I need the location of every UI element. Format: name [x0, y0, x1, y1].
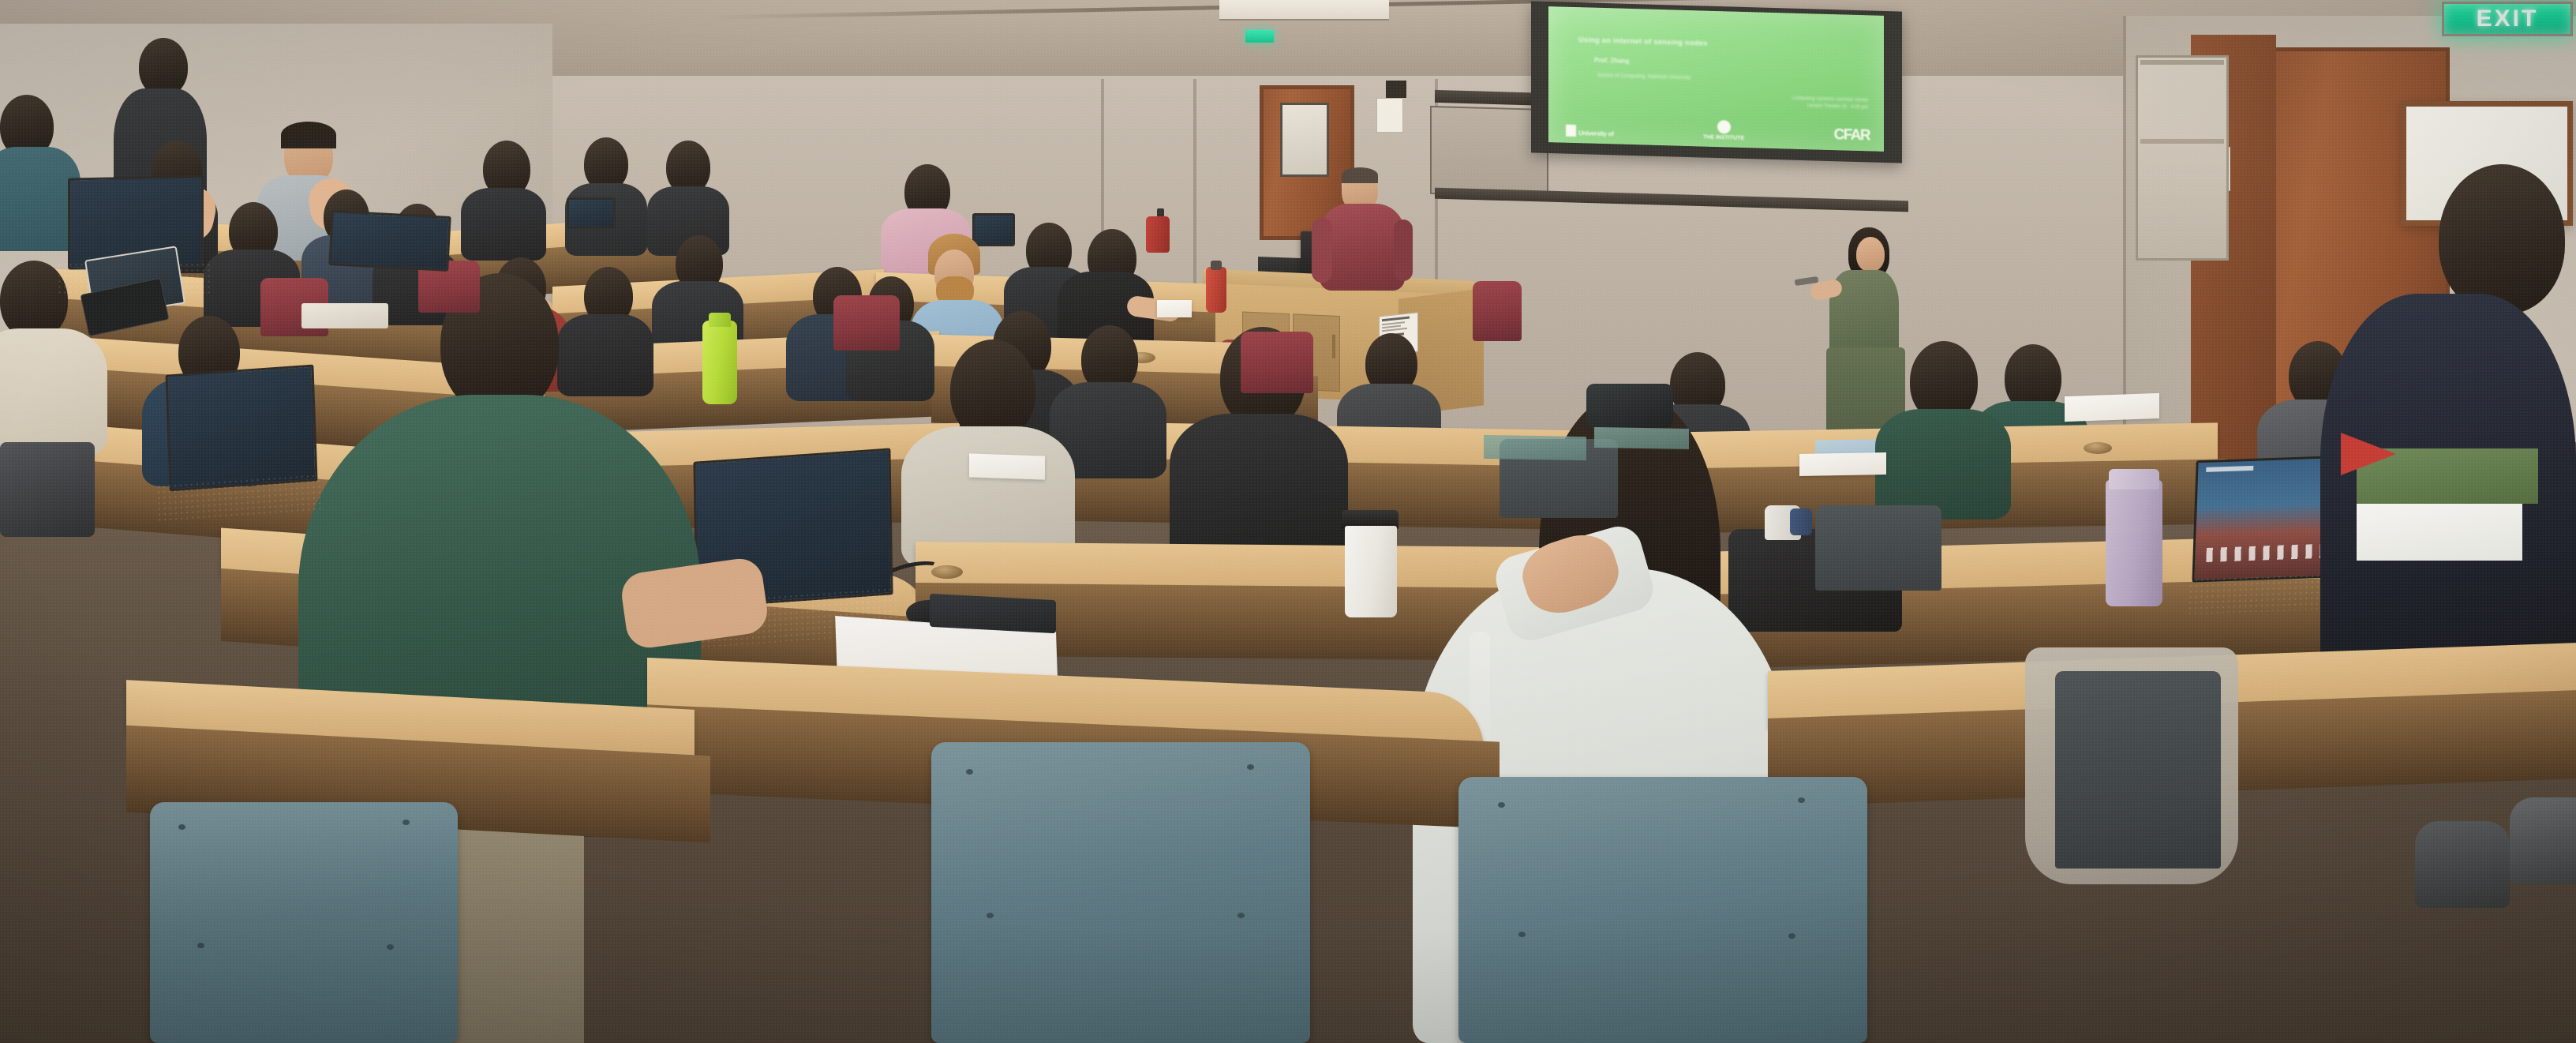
laptop-back-row	[972, 213, 1015, 246]
panel-louver-1	[2140, 60, 2224, 65]
wall-panel-right	[2136, 55, 2229, 261]
lecture-hall-photo: EXIT Using an internet of sensing nodes …	[0, 0, 2576, 1043]
desk-grommet-6	[2084, 442, 2112, 454]
chair-foreground-left[interactable]	[150, 802, 458, 1043]
backpack-bottle-cap	[1790, 508, 1812, 535]
walking-person-head	[139, 38, 188, 96]
chair-foreground-centre[interactable]	[931, 742, 1310, 1043]
speaker-arm-left	[1312, 218, 1332, 283]
student-torso-3	[461, 188, 546, 261]
slide-presenter: Prof. Zhang	[1594, 57, 1839, 71]
notebook-foreground	[930, 594, 1056, 633]
student-torso-12	[557, 314, 653, 396]
slide-logo-row: University of THE INSTITUTE CFAR	[1566, 113, 1870, 145]
projection-screen: Using an internet of sensing nodes Prof.…	[1548, 6, 1884, 152]
wall-notice-back	[1376, 98, 1403, 133]
purple-tumbler	[2106, 480, 2162, 606]
exit-sign-label: EXIT	[2477, 6, 2539, 32]
student-torso-24	[1875, 409, 2011, 520]
wall-speaker-icon	[1386, 81, 1406, 98]
facilitator-head	[1856, 237, 1885, 272]
chair-red-tier3b[interactable]	[1241, 332, 1313, 393]
chair-mid-2[interactable]	[1815, 505, 1941, 591]
right-person-shoe-right	[2510, 797, 2576, 884]
green-bottle-cap	[709, 313, 731, 327]
exit-indicator-icon	[1245, 30, 1274, 43]
student-head-grey-centre	[950, 340, 1035, 441]
green-water-bottle	[702, 321, 737, 404]
chair-foreground-right[interactable]	[1458, 777, 1867, 1043]
speaker-hair	[1342, 167, 1378, 183]
left-laptop-screen-3[interactable]	[328, 210, 451, 272]
paper-mid-1	[969, 453, 1045, 479]
student-torso-dark-centre	[1170, 414, 1348, 564]
paper-mid-2	[1799, 452, 1886, 476]
desk-mat-2	[1594, 427, 1689, 449]
student-torso-21	[0, 328, 107, 455]
right-person-shoe-left	[2415, 821, 2510, 908]
institute-logo: THE INSTITUTE	[1703, 120, 1744, 141]
student-hair-2	[281, 122, 336, 148]
red-bottle-cap	[1211, 261, 1222, 270]
hair-clip	[1586, 384, 1673, 428]
slide-affiliation: School of Computing, National University	[1597, 73, 1842, 85]
panel-louver-2	[2140, 139, 2224, 144]
desk-mat-1	[1484, 435, 1586, 460]
scarf-band-white	[2357, 499, 2522, 561]
left-laptop-screen-1[interactable]	[165, 365, 317, 492]
podium-handle-right[interactable]	[1332, 335, 1335, 358]
red-water-bottle	[1206, 267, 1226, 313]
chair-seat-right[interactable]	[2055, 671, 2221, 869]
ceiling-light-panel	[1219, 0, 1389, 21]
sponsor-logo: CFAR	[1834, 126, 1870, 144]
exit-sign: EXIT	[2442, 2, 2573, 36]
laptop-back-row-2	[567, 197, 616, 229]
white-laptop-lid[interactable]	[301, 303, 388, 328]
university-logo: University of	[1566, 125, 1614, 138]
back-door-window	[1280, 103, 1329, 177]
slide-title: Using an internet of sensing nodes	[1578, 36, 1839, 51]
right-person-head	[2439, 164, 2565, 314]
chair-red-podium[interactable]	[1473, 281, 1522, 341]
paper-notes	[1157, 300, 1192, 317]
fire-extinguisher	[1146, 216, 1170, 253]
wall-seam-mid	[1193, 79, 1196, 316]
coffee-cup	[1345, 526, 1397, 617]
camera-device-left	[0, 442, 95, 537]
tumbler-lid	[2109, 469, 2159, 490]
chair-red-tier3[interactable]	[833, 295, 900, 351]
paper-mid-3	[2065, 393, 2159, 422]
speaker-torso	[1320, 204, 1405, 291]
speaker-arm-right	[1394, 219, 1413, 281]
